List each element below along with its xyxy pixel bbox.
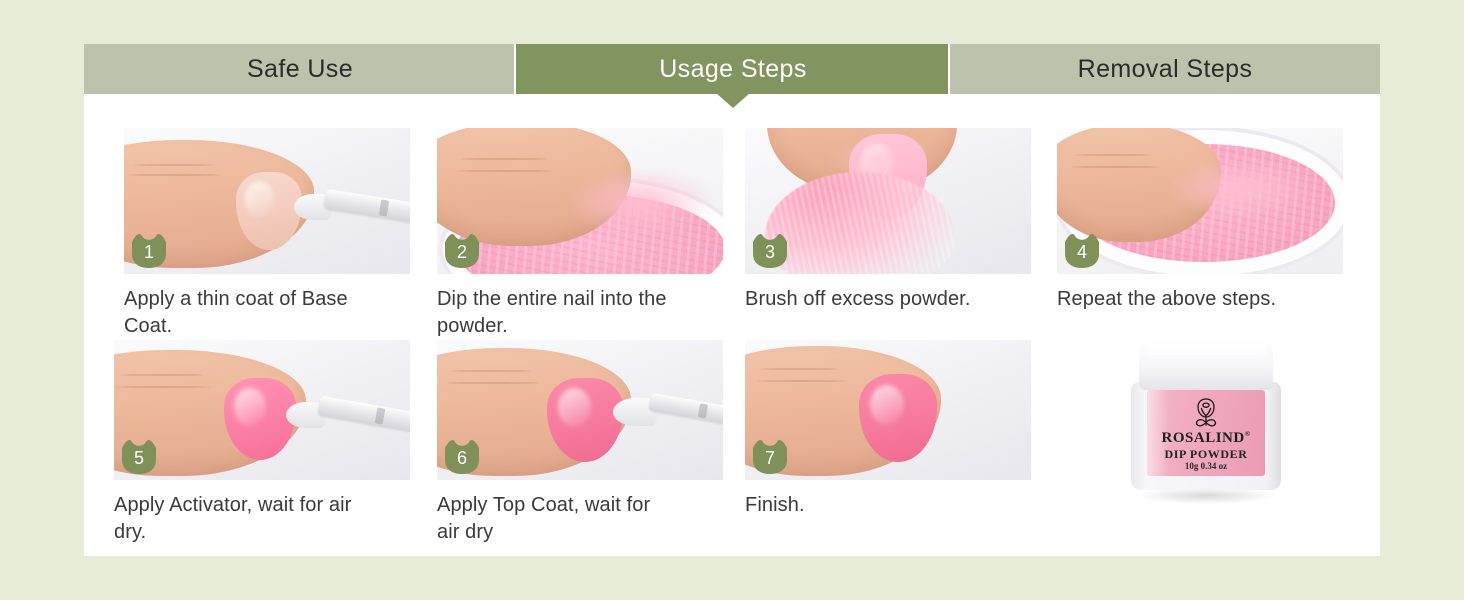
tab-usage-steps-label: Usage Steps bbox=[659, 55, 807, 84]
product-info-panel: Safe Use Usage Steps Removal Steps bbox=[0, 0, 1464, 600]
step-caption-2: Dip the entire nail into the powder. bbox=[437, 286, 723, 340]
photo-scene bbox=[114, 340, 410, 480]
tab-usage-steps[interactable]: Usage Steps bbox=[516, 44, 950, 94]
brand-text: ROSALIND bbox=[1162, 430, 1245, 446]
photo-scene bbox=[745, 340, 1031, 480]
photo-scene bbox=[1057, 128, 1343, 274]
tab-bar: Safe Use Usage Steps Removal Steps bbox=[84, 44, 1380, 94]
step-photo-7: 7 bbox=[745, 340, 1031, 480]
jar-shadow bbox=[1137, 490, 1275, 504]
step-caption-7: Finish. bbox=[745, 492, 1031, 519]
registered-mark: ® bbox=[1245, 430, 1251, 438]
step-photo-6: 6 bbox=[437, 340, 723, 480]
step-item-2: 2 Dip the entire nail into the powder. bbox=[437, 128, 723, 340]
step-caption-1: Apply a thin coat of Base Coat. bbox=[124, 286, 410, 340]
jar-label: ROSALIND® DIP POWDER 10g 0.34 oz bbox=[1147, 390, 1265, 476]
step-photo-1: 1 bbox=[124, 128, 410, 274]
steps-grid: 1 Apply a thin coat of Base Coat. bbox=[84, 94, 1380, 556]
tab-safe-use[interactable]: Safe Use bbox=[84, 44, 516, 94]
step-item-7: 7 Finish. bbox=[745, 340, 1031, 519]
step-number: 1 bbox=[144, 242, 154, 263]
tab-divider-1 bbox=[514, 44, 516, 94]
jar-product-type: DIP POWDER bbox=[1147, 447, 1265, 462]
rose-logo-icon bbox=[1189, 396, 1223, 430]
step-number: 4 bbox=[1077, 242, 1087, 263]
step-item-1: 1 Apply a thin coat of Base Coat. bbox=[124, 128, 410, 340]
jar-lid bbox=[1139, 338, 1273, 390]
step-photo-3: 3 bbox=[745, 128, 1031, 274]
step-photo-5: 5 bbox=[114, 340, 410, 480]
step-item-6: 6 Apply Top Coat, wait for air dry bbox=[437, 340, 723, 546]
tab-safe-use-label: Safe Use bbox=[247, 55, 353, 84]
step-number: 3 bbox=[765, 242, 775, 263]
step-caption-3: Brush off excess powder. bbox=[745, 286, 1031, 313]
step-item-3: 3 Brush off excess powder. bbox=[745, 128, 1031, 313]
tab-removal-steps[interactable]: Removal Steps bbox=[950, 44, 1380, 94]
step-photo-2: 2 bbox=[437, 128, 723, 274]
step-caption-6: Apply Top Coat, wait for air dry bbox=[437, 492, 723, 546]
step-item-5: 5 Apply Activator, wait for air dry. bbox=[114, 340, 410, 546]
photo-scene bbox=[437, 340, 723, 480]
product-jar: ROSALIND® DIP POWDER 10g 0.34 oz bbox=[1131, 338, 1281, 508]
step-number: 5 bbox=[134, 448, 144, 469]
jar-net-weight: 10g 0.34 oz bbox=[1147, 461, 1265, 471]
photo-scene bbox=[124, 128, 410, 274]
step-caption-5: Apply Activator, wait for air dry. bbox=[114, 492, 410, 546]
jar-brand-name: ROSALIND® bbox=[1147, 430, 1265, 447]
content-card: Safe Use Usage Steps Removal Steps bbox=[84, 44, 1380, 556]
jar-illustration: ROSALIND® DIP POWDER 10g 0.34 oz bbox=[1131, 338, 1281, 498]
step-number: 7 bbox=[765, 448, 775, 469]
tab-removal-steps-label: Removal Steps bbox=[1078, 55, 1253, 84]
step-number: 6 bbox=[457, 448, 467, 469]
step-number: 2 bbox=[457, 242, 467, 263]
photo-scene bbox=[745, 128, 1031, 274]
photo-scene bbox=[437, 128, 723, 274]
step-photo-4: 4 bbox=[1057, 128, 1343, 274]
step-item-4: 4 Repeat the above steps. bbox=[1057, 128, 1343, 313]
step-caption-4: Repeat the above steps. bbox=[1057, 286, 1343, 313]
tab-divider-2 bbox=[948, 44, 950, 94]
